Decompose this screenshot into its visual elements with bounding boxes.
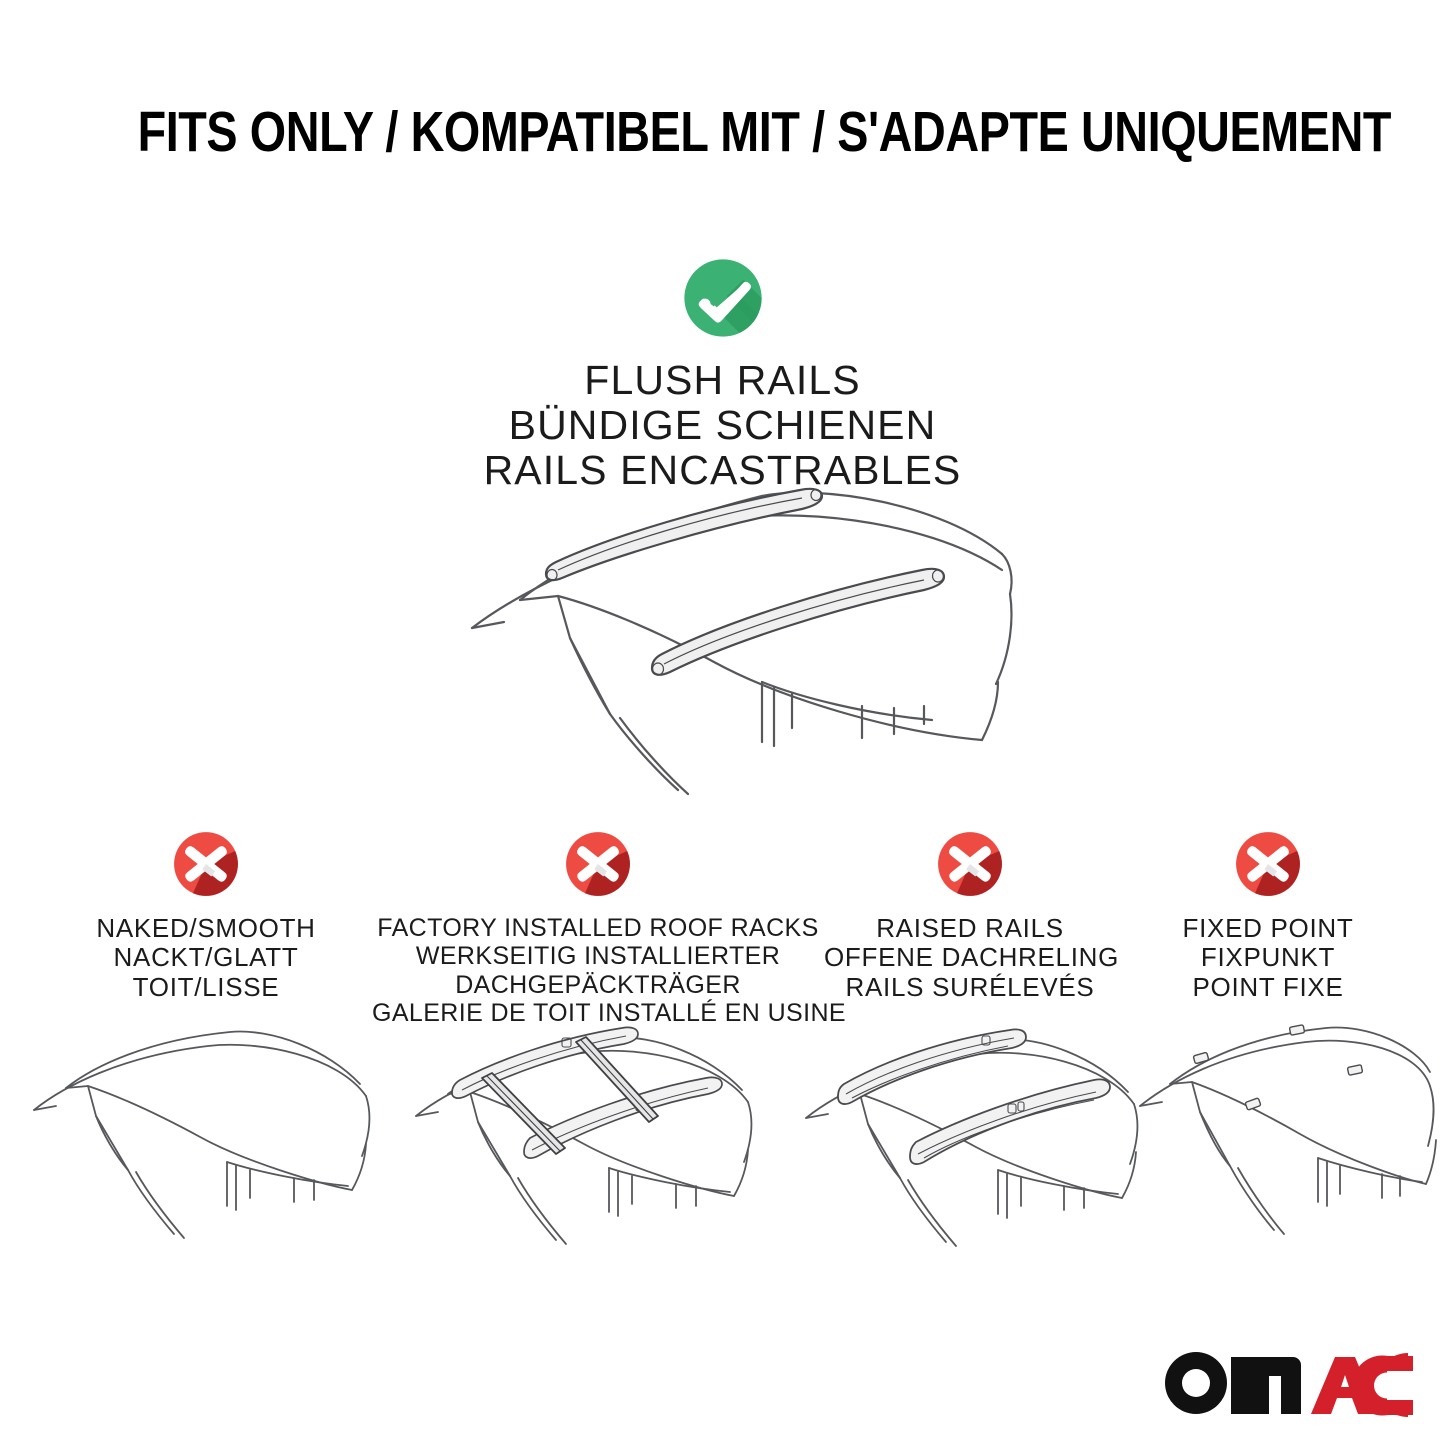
- incompatible-column-factory-roof-racks: FACTORY INSTALLED ROOF RACKS WERKSEITIG …: [372, 826, 824, 1027]
- logo-letter-o: [1165, 1352, 1227, 1414]
- incompatible-label-en: NAKED/SMOOTH: [30, 914, 382, 943]
- incompatible-column-raised-rails: RAISED RAILS OFFENE DACHRELING RAILS SUR…: [824, 826, 1116, 1002]
- car-roof-with-flush-rails-illustration: [462, 470, 1022, 780]
- compatible-label-de: BÜNDIGE SCHIENEN: [0, 403, 1445, 448]
- incompatible-label-group: RAISED RAILS OFFENE DACHRELING RAILS SUR…: [824, 914, 1116, 1002]
- compatible-label-en: FLUSH RAILS: [0, 358, 1445, 403]
- incompatible-label-en: FIXED POINT: [1118, 914, 1418, 943]
- green-check-circle-icon: [677, 252, 769, 344]
- incompatible-label-de-1: WERKSEITIG INSTALLIERTER: [372, 942, 824, 970]
- page-title-text: FITS ONLY / KOMPATIBEL MIT / S'ADAPTE UN…: [138, 104, 1391, 161]
- incompatible-columns: NAKED/SMOOTH NACKT/GLATT TOIT/LISSE: [0, 826, 1445, 1036]
- incompatible-label-fr: RAILS SURÉLEVÉS: [824, 973, 1116, 1002]
- incompatible-label-fr: TOIT/LISSE: [30, 973, 382, 1002]
- incompatible-column-fixed-point: FIXED POINT FIXPUNKT POINT FIXE: [1118, 826, 1418, 1002]
- red-x-circle-icon: [168, 826, 244, 902]
- car-roof-fixed-point-illustration: [1130, 1010, 1442, 1255]
- incompatible-label-de: FIXPUNKT: [1118, 943, 1418, 972]
- red-x-circle-icon: [932, 826, 1008, 902]
- page-title: FITS ONLY / KOMPATIBEL MIT / S'ADAPTE UN…: [0, 104, 1445, 161]
- red-x-circle-icon: [1230, 826, 1306, 902]
- incompatible-column-naked-smooth: NAKED/SMOOTH NACKT/GLATT TOIT/LISSE: [30, 826, 382, 1002]
- incompatible-label-en: RAISED RAILS: [824, 914, 1116, 943]
- incompatible-label-de: OFFENE DACHRELING: [824, 943, 1116, 972]
- omac-logo: [1159, 1347, 1409, 1419]
- incompatible-label-fr: POINT FIXE: [1118, 973, 1418, 1002]
- incompatible-label-de: NACKT/GLATT: [30, 943, 382, 972]
- incompatible-label-group: FIXED POINT FIXPUNKT POINT FIXE: [1118, 914, 1418, 1002]
- red-x-circle-icon: [560, 826, 636, 902]
- incompatible-label-de-2: DACHGEPÄCKTRÄGER: [372, 971, 824, 999]
- car-roof-raised-rails-illustration: [786, 1010, 1164, 1255]
- compatible-section: FLUSH RAILS BÜNDIGE SCHIENEN RAILS ENCAS…: [0, 252, 1445, 493]
- incompatible-label-en: FACTORY INSTALLED ROOF RACKS: [372, 914, 824, 942]
- logo-letter-m: [1231, 1357, 1301, 1414]
- incompatible-label-group: NAKED/SMOOTH NACKT/GLATT TOIT/LISSE: [30, 914, 382, 1002]
- car-roof-naked-smooth-illustration: [22, 1010, 390, 1255]
- car-roof-factory-roof-racks-illustration: [400, 1010, 790, 1255]
